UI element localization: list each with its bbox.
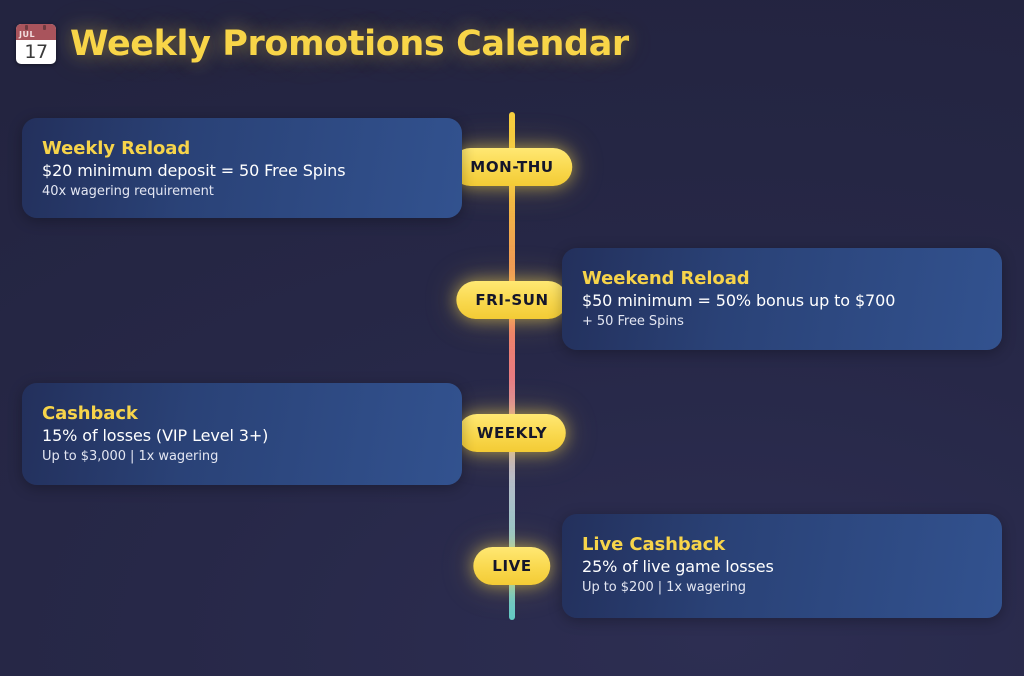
promo-card-title: Live Cashback [582,534,978,555]
calendar-icon-ring [25,25,28,30]
promo-card-title: Weekly Reload [42,138,438,159]
timeline-badge-fri-sun[interactable]: FRI-SUN [456,281,567,319]
promo-card-live-cashback[interactable]: Live Cashback 25% of live game losses Up… [562,514,1002,618]
page-title: Weekly Promotions Calendar [70,24,629,64]
promo-card-detail: $20 minimum deposit = 50 Free Spins [42,161,438,180]
promo-card-sub: Up to $200 | 1x wagering [582,580,978,595]
calendar-icon-month: JUL [16,24,56,40]
calendar-icon-day: 17 [16,40,56,64]
promo-card-title: Weekend Reload [582,268,978,289]
promo-card-detail: 15% of losses (VIP Level 3+) [42,426,438,445]
timeline-track [509,112,515,620]
promo-card-sub: Up to $3,000 | 1x wagering [42,449,438,464]
calendar-icon: JUL 17 [16,24,56,64]
promo-card-weekend-reload[interactable]: Weekend Reload $50 minimum = 50% bonus u… [562,248,1002,350]
promo-card-sub: + 50 Free Spins [582,314,978,329]
timeline-badge-mon-thu[interactable]: MON-THU [451,148,572,186]
timeline-badge-live[interactable]: LIVE [473,547,550,585]
promo-card-detail: 25% of live game losses [582,557,978,576]
page-header: JUL 17 Weekly Promotions Calendar [16,16,629,72]
calendar-icon-ring [43,25,46,30]
promo-card-detail: $50 minimum = 50% bonus up to $700 [582,291,978,310]
promo-card-cashback[interactable]: Cashback 15% of losses (VIP Level 3+) Up… [22,383,462,485]
promo-card-title: Cashback [42,403,438,424]
timeline-badge-weekly[interactable]: WEEKLY [458,414,566,452]
promo-card-weekly-reload[interactable]: Weekly Reload $20 minimum deposit = 50 F… [22,118,462,218]
promo-card-sub: 40x wagering requirement [42,184,438,199]
